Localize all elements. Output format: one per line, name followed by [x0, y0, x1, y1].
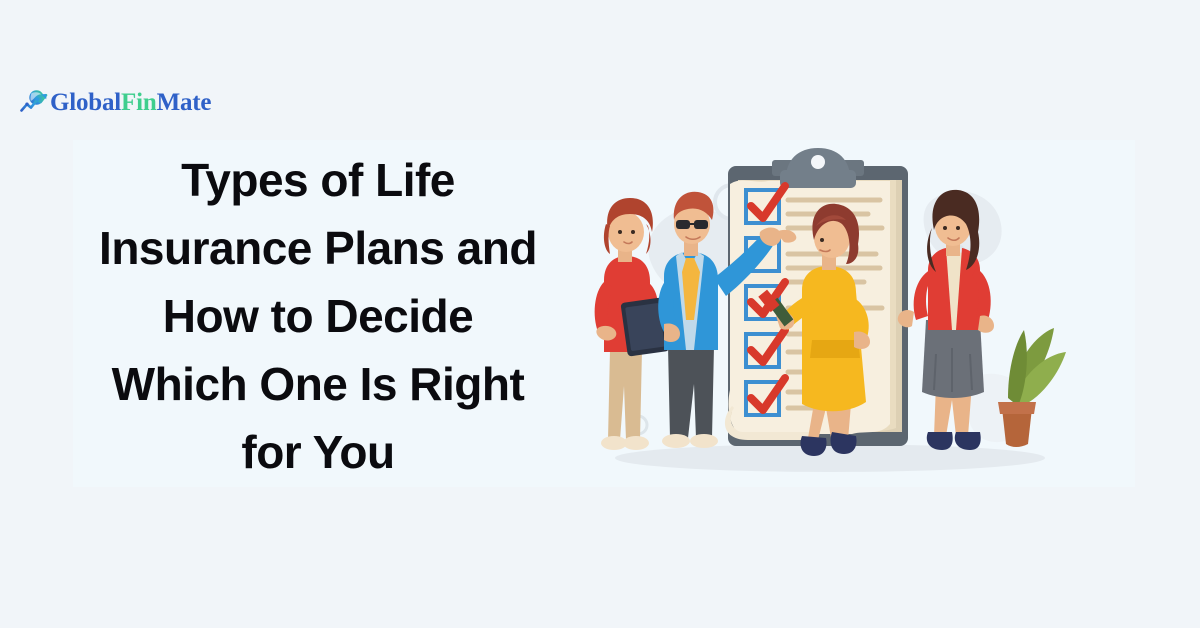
- site-logo[interactable]: GlobalFinMate: [20, 86, 211, 118]
- title-line-5: for You: [241, 426, 394, 478]
- title-line-2: Insurance Plans and: [99, 222, 537, 274]
- logo-word-mate: Mate: [157, 89, 212, 116]
- logo-word-global: Global: [50, 89, 121, 116]
- ground-shadow: [615, 444, 1045, 472]
- title-line-1: Types of Life: [181, 154, 455, 206]
- page-title: Types of Life Insurance Plans and How to…: [73, 146, 563, 486]
- checklist-clipboard-team-illustration: [580, 140, 1080, 490]
- globefin-chart-arrow-icon: [20, 89, 48, 115]
- logo-wordmark: GlobalFinMate: [50, 90, 211, 115]
- title-line-4: Which One Is Right: [112, 358, 525, 410]
- logo-word-fin: Fin: [121, 89, 157, 116]
- title-line-3: How to Decide: [163, 290, 473, 342]
